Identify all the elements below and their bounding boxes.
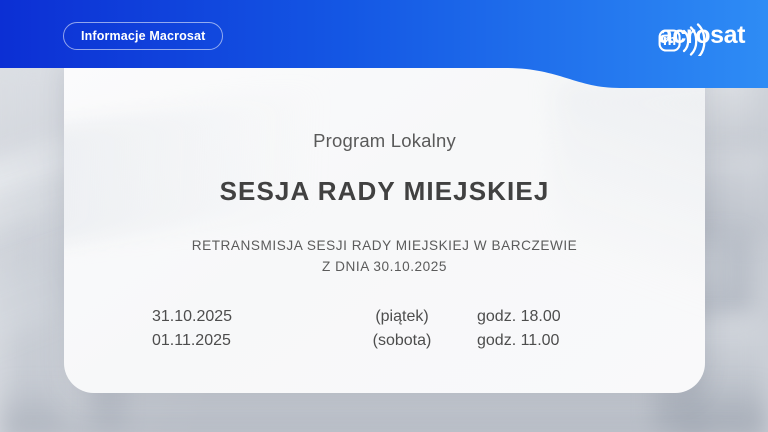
subtitle-line-1: RETRANSMISJA SESJI RADY MIEJSKIEJ W BARC… [64, 235, 705, 256]
schedule-date: 01.11.2025 [152, 329, 327, 353]
subtitle-line-2: Z DNIA 30.10.2025 [64, 256, 705, 277]
background-shape [8, 60, 60, 432]
brand-badge[interactable]: Informacje Macrosat [63, 22, 223, 50]
schedule-time: godz. 11.00 [477, 329, 617, 353]
header-bar: Informacje Macrosat m acrosat [0, 0, 768, 96]
schedule-row: 01.11.2025 (sobota) godz. 11.00 [152, 329, 617, 353]
program-eyebrow: Program Lokalny [64, 130, 705, 152]
macrosat-logo[interactable]: m acrosat [658, 22, 745, 47]
logo-wordmark: acrosat [659, 23, 745, 48]
card-content: Program Lokalny SESJA RADY MIEJSKIEJ RET… [64, 60, 705, 393]
schedule-day: (piątek) [327, 305, 477, 329]
schedule-list: 31.10.2025 (piątek) godz. 18.00 01.11.20… [152, 305, 617, 354]
schedule-date: 31.10.2025 [152, 305, 327, 329]
schedule-time: godz. 18.00 [477, 305, 617, 329]
schedule-day: (sobota) [327, 329, 477, 353]
schedule-row: 31.10.2025 (piątek) godz. 18.00 [152, 305, 617, 329]
subtitle: RETRANSMISJA SESJI RADY MIEJSKIEJ W BARC… [64, 235, 705, 277]
content-card: Program Lokalny SESJA RADY MIEJSKIEJ RET… [64, 60, 705, 393]
brand-badge-label: Informacje Macrosat [81, 29, 205, 43]
page-title: SESJA RADY MIEJSKIEJ [64, 176, 705, 207]
